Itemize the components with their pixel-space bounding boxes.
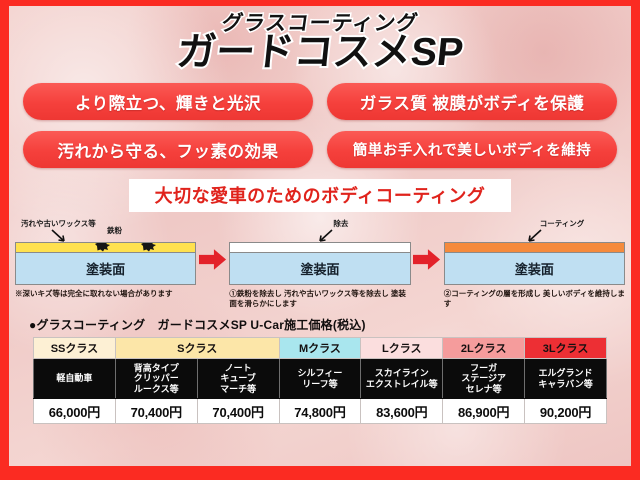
feature-pill-3: 汚れから守る、フッ素の効果: [23, 131, 313, 168]
pointer-arrow-icon: [51, 229, 67, 243]
class-cell-ss: SSクラス: [34, 338, 116, 359]
feature-pill-2: ガラス質 被膜がボディを保護: [327, 83, 617, 120]
step-1-layers: 塗装面: [15, 242, 196, 285]
price-cell: 74,800円: [279, 399, 361, 424]
price-cell: 86,900円: [443, 399, 525, 424]
price-row: 66,000円 70,400円 70,400円 74,800円 83,600円 …: [34, 399, 607, 424]
step-1-base-label: 塗装面: [16, 252, 195, 284]
class-header-row: SSクラス Sクラス Mクラス Lクラス 2Lクラス 3Lクラス: [34, 338, 607, 359]
iron-powder-icon: [94, 242, 111, 252]
pointer-arrow-icon: [526, 229, 542, 243]
class-cell-3l: 3Lクラス: [525, 338, 607, 359]
pointer-arrow-icon: [317, 229, 333, 243]
model-cell: フーガステージアセレナ等: [443, 359, 525, 399]
step-1-labels: 汚れや古いワックス等 鉄粉: [15, 218, 196, 242]
price-cell: 70,400円: [115, 399, 197, 424]
model-cell: 軽自動車: [34, 359, 116, 399]
price-table: SSクラス Sクラス Mクラス Lクラス 2Lクラス 3Lクラス 軽自動車 背高…: [33, 337, 607, 424]
class-cell-l: Lクラス: [361, 338, 443, 359]
feature-list: より際立つ、輝きと光沢 ガラス質 被膜がボディを保護 汚れから守る、フッ素の効果…: [23, 83, 617, 168]
price-cell: 90,200円: [525, 399, 607, 424]
step-2-layers: 塗装面: [229, 242, 410, 285]
step-1-callout-dirt: 汚れや古いワックス等: [21, 218, 96, 229]
step-3-note: ②コーティングの層を形成し 美しいボディを維持します: [444, 289, 625, 309]
step-3-base-label: 塗装面: [445, 252, 624, 284]
step-3-labels: コーティング: [444, 218, 625, 242]
feature-pill-4: 簡単お手入れで美しいボディを維持: [327, 131, 617, 168]
model-row: 軽自動車 背高タイプクリッパールークス等 ノートキューブマーチ等 シルフィーリー…: [34, 359, 607, 399]
product-title: ガードコスメSP: [7, 33, 633, 74]
coating-layer: [445, 243, 624, 252]
step-1-callout-iron: 鉄粉: [107, 225, 122, 236]
process-step-1: 汚れや古いワックス等 鉄粉 塗装面 ※深いキズ等は完全に取れない場合があります: [15, 218, 196, 299]
model-cell: エルグランドキャラバン等: [525, 359, 607, 399]
flow-arrow-2-icon: [411, 218, 444, 271]
process-step-3: コーティング 塗装面 ②コーティングの層を形成し 美しいボディを維持します: [444, 218, 625, 309]
price-table-wrap: SSクラス Sクラス Mクラス Lクラス 2Lクラス 3Lクラス 軽自動車 背高…: [33, 337, 607, 424]
flow-arrow-1-icon: [196, 218, 229, 271]
iron-powder-icon: [140, 242, 157, 252]
process-diagram: 汚れや古いワックス等 鉄粉 塗装面 ※深いキズ等は完全に取れない場合があります: [9, 218, 631, 309]
cleaned-layer: [230, 243, 409, 252]
process-step-2: 除去 塗装面 ①鉄粉を除去し 汚れや古いワックス等を除去し 塗装面を滑らかにしま…: [229, 218, 410, 309]
model-cell: シルフィーリーフ等: [279, 359, 361, 399]
class-cell-m: Mクラス: [279, 338, 361, 359]
model-cell: ノートキューブマーチ等: [197, 359, 279, 399]
step-3-layers: 塗装面: [444, 242, 625, 285]
step-2-labels: 除去: [229, 218, 410, 242]
price-cell: 70,400円: [197, 399, 279, 424]
class-cell-2l: 2Lクラス: [443, 338, 525, 359]
section-banner: 大切な愛車のためのボディコーティング: [9, 179, 631, 212]
title-block: グラスコーティング ガードコスメSP: [9, 6, 631, 74]
price-cell: 66,000円: [34, 399, 116, 424]
step-1-note: ※深いキズ等は完全に取れない場合があります: [15, 289, 196, 299]
step-2-callout-remove: 除去: [333, 218, 348, 229]
poster-root: グラスコーティング ガードコスメSP より際立つ、輝きと光沢 ガラス質 被膜がボ…: [0, 0, 640, 480]
step-3-callout-coating: コーティング: [540, 218, 585, 229]
model-cell: 背高タイプクリッパールークス等: [115, 359, 197, 399]
model-cell: スカイラインエクストレイル等: [361, 359, 443, 399]
feature-pill-1: より際立つ、輝きと光沢: [23, 83, 313, 120]
price-cell: 83,600円: [361, 399, 443, 424]
step-2-note: ①鉄粉を除去し 汚れや古いワックス等を除去し 塗装面を滑らかにします: [229, 289, 410, 309]
banner-text: 大切な愛車のためのボディコーティング: [129, 179, 512, 212]
step-2-base-label: 塗装面: [230, 252, 409, 284]
price-heading: ●グラスコーティング ガードコスメSP U-Car施工価格(税込): [29, 316, 631, 333]
class-cell-s: Sクラス: [115, 338, 279, 359]
dirt-wax-layer: [16, 243, 195, 252]
